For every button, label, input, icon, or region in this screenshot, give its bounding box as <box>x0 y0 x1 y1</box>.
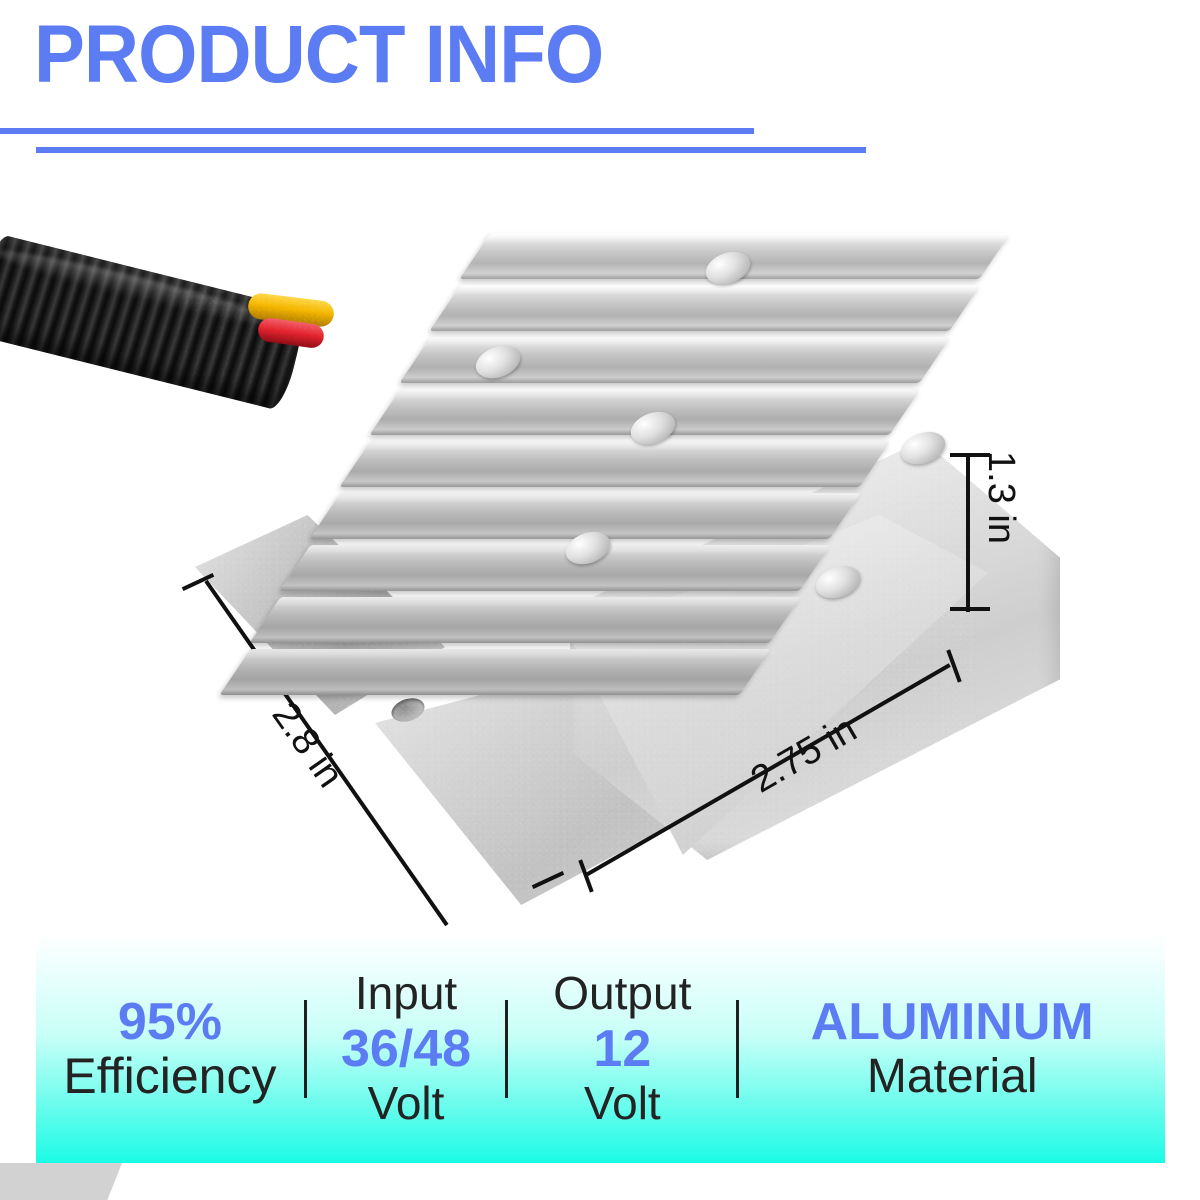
input-unit: Volt <box>368 1078 445 1130</box>
bolt-head <box>896 426 949 470</box>
corner-accent-shape <box>0 1163 122 1200</box>
material-label: Material <box>867 1051 1038 1104</box>
heatsink-fin <box>219 649 770 695</box>
spec-cell-output: Output 12 Volt <box>508 935 736 1163</box>
input-label: Input <box>355 968 457 1020</box>
output-unit: Volt <box>584 1078 661 1130</box>
product-image: 2.8 in2.75 in1.3 in <box>0 175 1200 920</box>
efficiency-label: Efficiency <box>63 1049 276 1103</box>
heatsink-fin <box>429 285 980 331</box>
heatsink-fin <box>339 441 890 487</box>
spec-cell-input: Input 36/48 Volt <box>307 935 505 1163</box>
output-value: 12 <box>593 1020 651 1078</box>
heatsink-fin <box>249 597 800 643</box>
output-label: Output <box>553 968 691 1020</box>
dim-line-height <box>966 457 970 612</box>
dim-label-height: 1.3 in <box>979 451 1022 544</box>
converter-body <box>175 215 975 895</box>
material-value: ALUMINUM <box>811 994 1094 1051</box>
efficiency-value: 95% <box>118 995 222 1050</box>
spec-cell-efficiency: 95% Efficiency <box>36 935 304 1163</box>
heatsink-fin-stack <box>175 215 975 895</box>
title-rule-top <box>0 128 754 134</box>
input-value: 36/48 <box>341 1020 471 1078</box>
spec-cell-material: ALUMINUM Material <box>739 935 1165 1163</box>
page-title: PRODUCT INFO <box>34 14 603 96</box>
page-header: PRODUCT INFO <box>0 0 1200 175</box>
title-rule-bottom <box>36 147 866 153</box>
spec-bar: 95% Efficiency Input 36/48 Volt Output 1… <box>36 935 1165 1163</box>
heatsink-fin <box>279 545 830 591</box>
bolt-head <box>811 560 864 604</box>
dim-cap-height-bottom <box>950 607 990 611</box>
